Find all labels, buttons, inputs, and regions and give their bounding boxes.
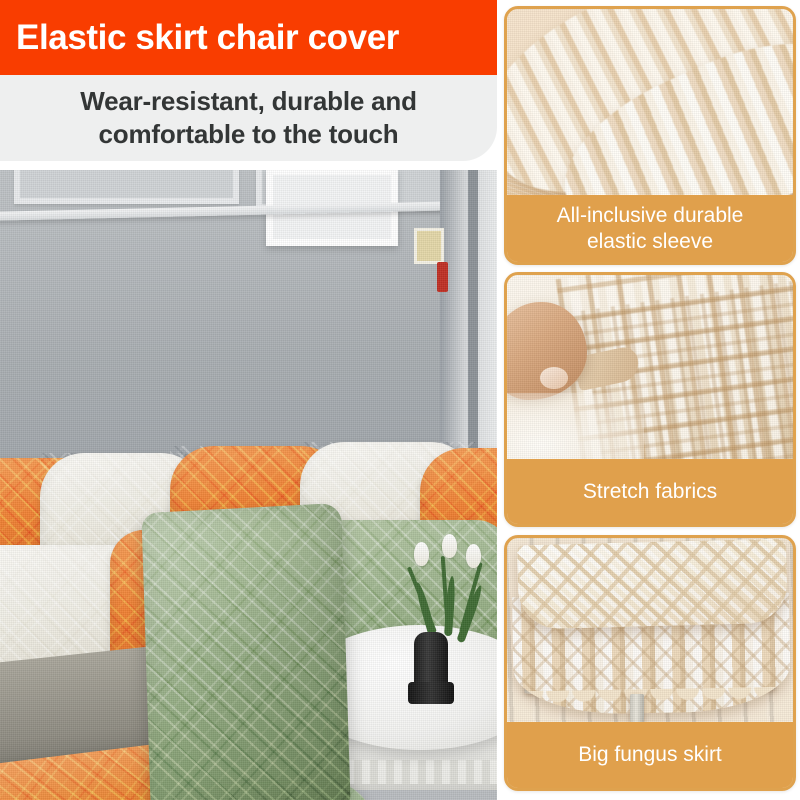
tulip-bud: [442, 534, 457, 558]
stool-leg: [630, 694, 644, 723]
main-product-photo: [0, 170, 497, 800]
subtitle-line-1: Wear-resistant, durable and: [80, 85, 417, 118]
feature-caption-stretch-fabrics: Stretch fabrics: [507, 459, 793, 524]
shelf-frame: [414, 228, 444, 264]
feature-caption-big-fungus-skirt: Big fungus skirt: [507, 722, 793, 788]
subtitle-line-2: comfortable to the touch: [99, 118, 399, 151]
feature-photo-elastic-sleeve: [507, 9, 793, 201]
thumbnail: [540, 367, 567, 389]
caption-line-1: Big fungus skirt: [578, 742, 722, 768]
red-decor-object: [437, 262, 448, 292]
title-banner: Elastic skirt chair cover: [0, 0, 497, 75]
caption-line-1: All-inclusive durable: [557, 204, 744, 227]
feature-panel-elastic-sleeve: All-inclusive durable elastic sleeve: [504, 6, 796, 265]
feature-photo-big-fungus-skirt: [507, 538, 793, 728]
product-marketing-image: Elastic skirt chair cover Wear-resistant…: [0, 0, 800, 800]
feature-photo-stretch-fabrics: [507, 275, 793, 465]
feature-caption-elastic-sleeve: All-inclusive durable elastic sleeve: [507, 195, 793, 262]
wall-molding-panel: [14, 170, 239, 204]
feature-panel-big-fungus-skirt: Big fungus skirt: [504, 535, 796, 791]
page-title: Elastic skirt chair cover: [0, 18, 399, 58]
stool-seat-cover: [517, 538, 788, 629]
feature-panel-stretch-fabrics: Stretch fabrics: [504, 272, 796, 527]
subtitle-panel: Wear-resistant, durable and comfortable …: [0, 75, 497, 161]
tulip-bud: [466, 544, 481, 568]
tulip-bud: [414, 542, 429, 566]
caption-line-1: Stretch fabrics: [583, 479, 717, 505]
caption-line-2: elastic sleeve: [587, 230, 713, 253]
tulip-bouquet: [418, 570, 478, 640]
chair-back-cover-green: [141, 503, 350, 800]
black-vase-base: [408, 682, 454, 704]
